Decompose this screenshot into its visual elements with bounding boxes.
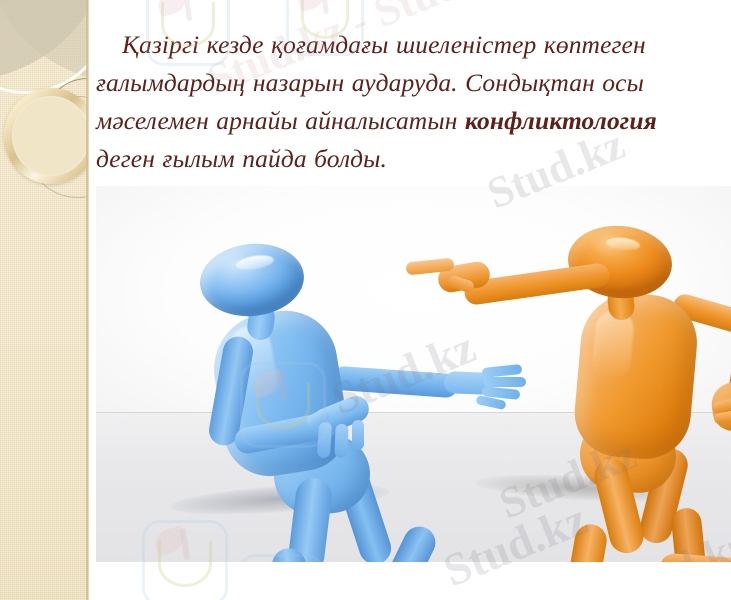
- blue-finger: [484, 377, 526, 387]
- blue-finger: [352, 420, 364, 450]
- orange-knuckle: [713, 410, 731, 424]
- paragraph-emphasis: конфликтология: [465, 106, 657, 135]
- text-block: Қазіргі кезде қоғамдағы шиеленістер көпт…: [96, 26, 722, 178]
- circle-ring-icon: [4, 88, 88, 184]
- blue-head: [197, 239, 308, 321]
- blue-finger: [317, 422, 332, 459]
- decorative-sidebar: [0, 0, 88, 600]
- sidebar-divider: [86, 0, 89, 600]
- presentation-slide: Қазіргі кезде қоғамдағы шиеленістер көпт…: [0, 0, 731, 600]
- blue-finger: [482, 364, 523, 378]
- body-paragraph: Қазіргі кезде қоғамдағы шиеленістер көпт…: [96, 26, 722, 178]
- paragraph-part-two: деген ғылым пайда болды.: [96, 144, 387, 173]
- blue-extended-arm: [331, 366, 458, 399]
- orange-torso: [571, 289, 701, 462]
- conflict-illustration-image: Stud.kz Stud.kz Stud.kz Stud.kz: [96, 186, 731, 562]
- blue-finger: [334, 424, 348, 458]
